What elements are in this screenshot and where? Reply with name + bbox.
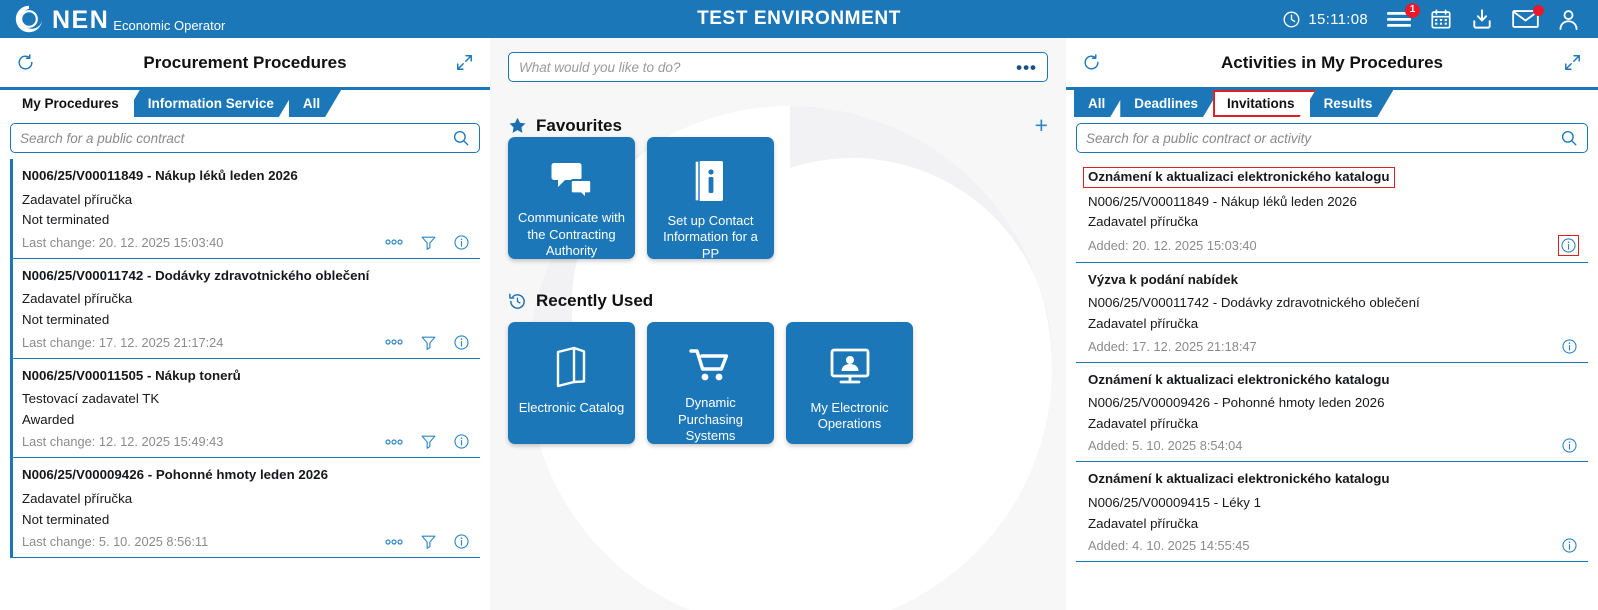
activity-added-date: Added: 17. 12. 2025 21:18:47 [1088,339,1561,354]
speech-bubbles-glyph [549,160,595,200]
activity-title: Oznámení k aktualizaci elektronického ka… [1088,471,1584,488]
info-glyph [1561,338,1578,355]
header-actions: 15:11:08 1 [1282,8,1598,31]
favourites-title: Favourites [536,116,622,136]
download-button[interactable] [1470,8,1494,30]
procedure-authority: Zadavatel příručka [22,190,476,211]
monitor-user-glyph [828,347,872,387]
row-actions [1561,437,1584,454]
tab-invitations[interactable]: Invitations [1213,90,1316,117]
procedure-last-change: Last change: 12. 12. 2025 15:49:43 [22,434,384,449]
favourites-header: Favourites + [508,114,1048,137]
more-options-icon[interactable] [384,338,404,346]
tile-label: My Electronic Operations [786,400,913,433]
search-icon[interactable] [1560,129,1578,147]
tab-deadlines[interactable]: Deadlines [1120,90,1219,117]
tab-label: Results [1324,96,1373,111]
procedure-footer: Last change: 5. 10. 2025 8:56:11 [22,533,476,550]
info-icon[interactable] [1561,537,1578,554]
favourites-tiles: Communicate with the Contracting Authori… [508,137,1048,259]
search-input[interactable] [20,131,452,146]
right-expand-button[interactable] [1563,53,1582,72]
info-glyph [1561,437,1578,454]
more-options-glyph [384,538,404,546]
mail-button[interactable] [1512,9,1539,29]
list-item[interactable]: Oznámení k aktualizaci elektronického ka… [1076,462,1588,562]
list-item[interactable]: Výzva k podání nabídek N006/25/V00011742… [1076,263,1588,363]
tile-my-electronic-operations[interactable]: My Electronic Operations [786,322,913,444]
row-actions [1561,338,1584,355]
procedure-footer: Last change: 20. 12. 2025 15:03:40 [22,234,476,251]
right-search-box[interactable] [1076,123,1588,153]
list-item[interactable]: N006/25/V00009426 - Pohonné hmoty leden … [10,458,480,558]
tab-label: Information Service [148,96,274,111]
left-expand-button[interactable] [455,53,474,72]
filter-funnel-icon[interactable] [420,433,437,450]
user-account-icon [1557,8,1580,31]
procedure-last-change: Last change: 5. 10. 2025 8:56:11 [22,534,384,549]
omnibox[interactable]: ••• [508,52,1048,82]
activity-footer: Added: 20. 12. 2025 15:03:40 [1088,236,1584,255]
speech-bubbles-icon [549,159,595,200]
more-options-icon[interactable] [384,238,404,246]
address-book-glyph [690,159,732,203]
activity-footer: Added: 4. 10. 2025 14:55:45 [1088,537,1584,554]
filter-funnel-glyph [420,433,437,450]
procedure-status: Not terminated [22,310,476,331]
left-panel-header: Procurement Procedures [0,38,490,90]
tile-dynamic-purchasing-systems[interactable]: Dynamic Purchasing Systems [647,322,774,444]
right-panel-tabs: All Deadlines Invitations Results [1066,90,1598,117]
tile-set-up-contact-information[interactable]: Set up Contact Information for a PP [647,137,774,259]
right-search-row [1066,117,1598,159]
procedure-last-change: Last change: 20. 12. 2025 15:03:40 [22,235,384,250]
shopping-cart-icon [689,344,733,385]
info-glyph [1561,537,1578,554]
tab-my-procedures[interactable]: My Procedures [8,90,140,117]
row-actions [384,433,476,450]
procedure-authority: Testovací zadavatel TK [22,389,476,410]
recently-used-header: Recently Used [508,291,1048,311]
left-refresh-button[interactable] [16,53,35,72]
activity-contract: N006/25/V00009415 - Léky 1 [1088,493,1584,514]
row-actions [1561,537,1584,554]
row-actions [384,533,476,550]
activity-authority: Zadavatel příručka [1088,414,1584,435]
open-book-glyph [552,346,592,388]
activity-title: Oznámení k aktualizaci elektronického ka… [1088,372,1584,389]
info-icon[interactable] [453,433,470,450]
procedure-authority: Zadavatel příručka [22,289,476,310]
list-item[interactable]: N006/25/V00011849 - Nákup léků leden 202… [10,159,480,259]
tab-results[interactable]: Results [1310,90,1394,117]
clock-display: 15:11:08 [1282,10,1368,29]
info-icon[interactable] [453,533,470,550]
activity-added-date: Added: 5. 10. 2025 8:54:04 [1088,438,1561,453]
more-options-icon[interactable] [384,538,404,546]
list-item[interactable]: N006/25/V00011742 - Dodávky zdravotnické… [10,259,480,359]
activities-list: Oznámení k aktualizaci elektronického ka… [1066,159,1598,610]
procedure-title: N006/25/V00009426 - Pohonné hmoty leden … [22,467,476,484]
expand-icon [455,53,474,72]
more-options-icon[interactable] [384,438,404,446]
activity-authority: Zadavatel příručka [1088,212,1584,233]
activity-added-date: Added: 20. 12. 2025 15:03:40 [1088,238,1559,253]
tile-label: Dynamic Purchasing Systems [647,395,774,444]
list-item[interactable]: Oznámení k aktualizaci elektronického ka… [1076,363,1588,463]
address-book-info-icon [690,159,732,203]
recently-used-tiles: Electronic Catalog Dynamic Purchasing Sy… [508,322,1048,444]
row-actions [1559,236,1584,255]
omnibox-more-icon[interactable]: ••• [1016,59,1037,76]
info-glyph [453,433,470,450]
info-glyph [453,533,470,550]
expand-icon [1563,53,1582,72]
procedure-status: Not terminated [22,510,476,531]
page-body: Procurement Procedures My Procedures Inf… [0,38,1598,610]
activity-contract: N006/25/V00011742 - Dodávky zdravotnické… [1088,293,1584,314]
recently-used-title: Recently Used [536,291,653,311]
filter-funnel-glyph [420,334,437,351]
open-book-icon [552,344,592,390]
top-header-bar: NEN Economic Operator TEST ENVIRONMENT 1… [0,0,1598,38]
filter-funnel-icon[interactable] [420,234,437,251]
shopping-cart-glyph [689,345,733,385]
left-search-box[interactable] [10,123,480,153]
activity-contract: N006/25/V00009426 - Pohonné hmoty leden … [1088,393,1584,414]
procedures-list: N006/25/V00011849 - Nákup léků leden 202… [0,159,490,610]
more-options-glyph [384,238,404,246]
center-content: ••• Favourites + Communicat [490,38,1066,444]
procedure-authority: Zadavatel příručka [22,489,476,510]
filter-funnel-icon[interactable] [420,533,437,550]
row-actions [384,334,476,351]
tile-label: Electronic Catalog [512,400,632,416]
tab-all[interactable]: All [1074,90,1126,117]
tile-electronic-catalog[interactable]: Electronic Catalog [508,322,635,444]
tab-label: My Procedures [22,96,119,111]
info-icon[interactable] [453,234,470,251]
row-actions [384,234,476,251]
list-item[interactable]: Oznámení k aktualizaci elektronického ka… [1076,159,1588,263]
tab-all[interactable]: All [289,90,341,117]
history-clock-icon [508,292,527,311]
refresh-icon [1082,53,1101,72]
more-options-glyph [384,338,404,346]
info-glyph [453,234,470,251]
left-panel-title: Procurement Procedures [35,53,455,73]
info-glyph [453,334,470,351]
procedure-status: Not terminated [22,210,476,231]
hamburger-menu-button[interactable]: 1 [1386,10,1412,29]
clock-icon [1282,10,1301,29]
activity-title: Výzva k podání nabídek [1088,272,1584,289]
tab-label: All [1088,96,1105,111]
filter-funnel-icon[interactable] [420,334,437,351]
right-panel-title: Activities in My Procedures [1101,53,1563,73]
procedure-status: Awarded [22,410,476,431]
tile-label: Set up Contact Information for a PP [647,213,774,262]
activities-panel: Activities in My Procedures All Deadline… [1066,38,1598,610]
tile-label: Communicate with the Contracting Authori… [508,210,635,259]
procedure-title: N006/25/V00011849 - Nákup léků leden 202… [22,168,476,185]
procedure-title: N006/25/V00011742 - Dodávky zdravotnické… [22,268,476,285]
procedure-footer: Last change: 12. 12. 2025 15:49:43 [22,433,476,450]
add-favourite-button[interactable]: + [1035,114,1048,137]
refresh-icon [16,53,35,72]
procedure-footer: Last change: 17. 12. 2025 21:17:24 [22,334,476,351]
monitor-user-icon [828,344,872,390]
list-item[interactable]: N006/25/V00011505 - Nákup tonerů Testova… [10,359,480,459]
filter-funnel-glyph [420,533,437,550]
activity-footer: Added: 5. 10. 2025 8:54:04 [1088,437,1584,454]
menu-notification-badge: 1 [1405,3,1420,18]
info-icon[interactable] [1561,338,1578,355]
info-icon[interactable] [453,334,470,351]
left-search-row [0,117,490,159]
tile-communicate-with-contracting-authority[interactable]: Communicate with the Contracting Authori… [508,137,635,259]
tab-label: Deadlines [1134,96,1198,111]
tab-label: All [303,96,320,111]
calendar-icon [1430,8,1452,30]
left-panel-tabs: My Procedures Information Service All [0,90,490,117]
activity-authority: Zadavatel příručka [1088,514,1584,535]
activity-authority: Zadavatel příručka [1088,314,1584,335]
center-dashboard: ••• Favourites + Communicat [490,38,1066,610]
clock-text: 15:11:08 [1308,11,1368,28]
omnibox-input[interactable] [519,60,1016,75]
procedure-title: N006/25/V00011505 - Nákup tonerů [22,368,476,385]
more-options-glyph [384,438,404,446]
procedure-last-change: Last change: 17. 12. 2025 21:17:24 [22,335,384,350]
right-refresh-button[interactable] [1082,53,1101,72]
procurement-procedures-panel: Procurement Procedures My Procedures Inf… [0,38,490,610]
activity-added-date: Added: 4. 10. 2025 14:55:45 [1088,538,1561,553]
info-glyph [1560,237,1577,254]
mail-notification-dot [1533,5,1544,16]
tab-information-service[interactable]: Information Service [134,90,295,117]
info-icon[interactable] [1561,437,1578,454]
activity-footer: Added: 17. 12. 2025 21:18:47 [1088,338,1584,355]
activity-title: Oznámení k aktualizaci elektronického ka… [1084,168,1394,187]
activity-search-input[interactable] [1086,131,1560,146]
star-icon [508,116,527,135]
tab-label: Invitations [1227,96,1295,111]
activity-contract: N006/25/V00011849 - Nákup léků leden 202… [1088,192,1584,213]
right-panel-header: Activities in My Procedures [1066,38,1598,90]
info-icon[interactable] [1559,236,1578,255]
search-icon[interactable] [452,129,470,147]
filter-funnel-glyph [420,234,437,251]
calendar-button[interactable] [1430,8,1452,30]
user-account-button[interactable] [1557,8,1580,31]
download-inbox-icon [1470,8,1494,30]
